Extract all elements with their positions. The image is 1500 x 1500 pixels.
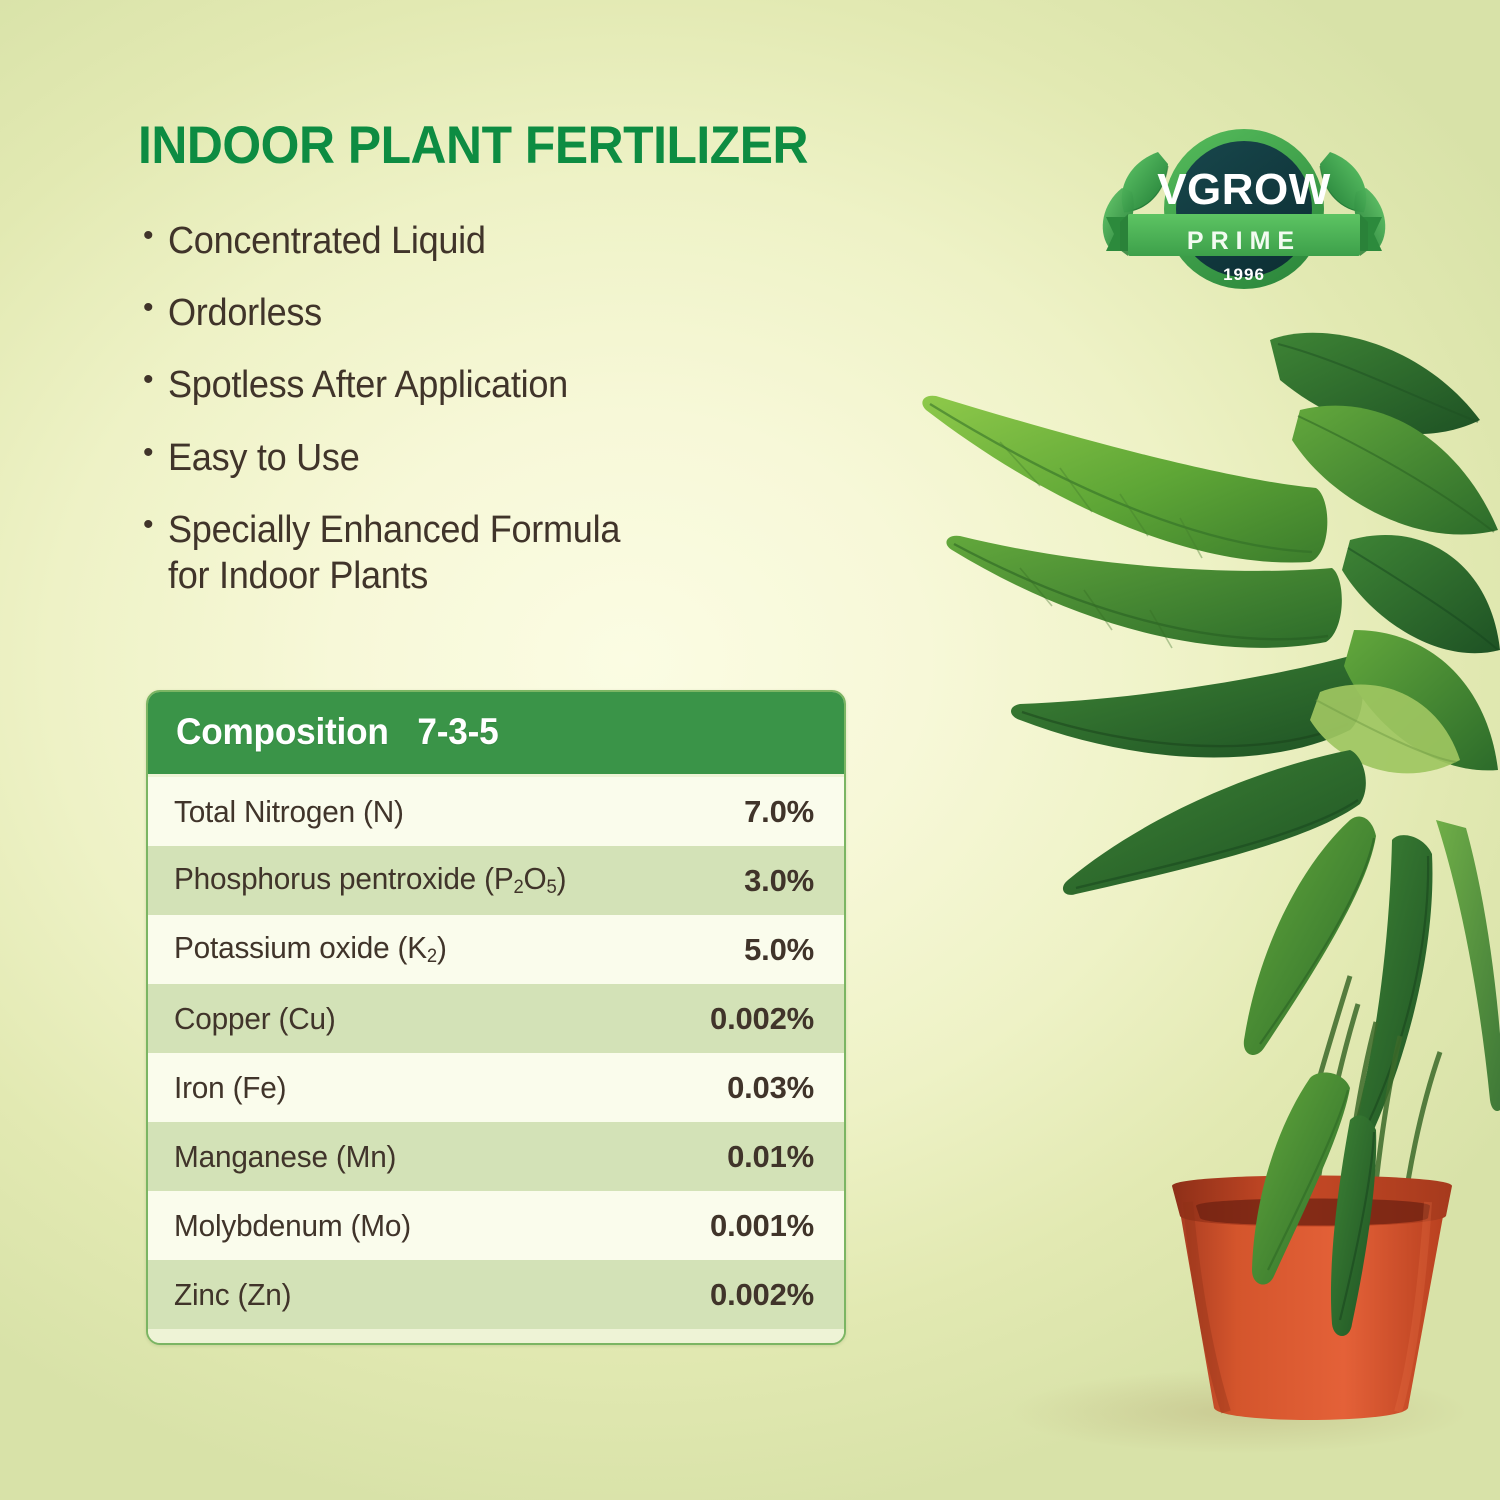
leaf-icon: [1436, 820, 1500, 1111]
bullet-icon: •: [138, 362, 168, 399]
list-item: • Spotless After Application: [138, 362, 988, 408]
terracotta-pot: [1172, 1176, 1452, 1421]
nutrient-label: Molybdenum (Mo): [174, 1208, 411, 1244]
nutrient-label: Potassium oxide (K2): [174, 930, 447, 968]
leaf-icon: [1292, 406, 1498, 535]
list-item: • Ordorless: [138, 290, 988, 336]
feature-list: • Concentrated Liquid • Ordorless • Spot…: [138, 218, 988, 600]
leaf-icon: [1252, 1073, 1350, 1285]
nutrient-label: Zinc (Zn): [174, 1277, 291, 1313]
page-title: INDOOR PLANT FERTILIZER: [138, 118, 937, 174]
table-row: Iron (Fe) 0.03%: [148, 1053, 844, 1122]
feature-label: Ordorless: [168, 290, 322, 336]
nutrient-label: Manganese (Mn): [174, 1139, 396, 1175]
nutrient-value: 0.002%: [710, 1277, 820, 1313]
table-row: Molybdenum (Mo) 0.001%: [148, 1191, 844, 1260]
feature-label: Spotless After Application: [168, 362, 568, 408]
feature-label: Specially Enhanced Formula for Indoor Pl…: [168, 507, 620, 600]
brand-name-text: VGROW: [1157, 165, 1331, 214]
composition-npk-ratio: 7-3-5: [417, 711, 498, 752]
composition-header-label: Composition 7-3-5: [176, 711, 784, 753]
table-row: Total Nitrogen (N) 7.0%: [148, 777, 844, 846]
brand-ribbon-text: PRIME: [1187, 227, 1301, 255]
leaf-icon: [1310, 685, 1460, 774]
list-item: • Specially Enhanced Formula for Indoor …: [138, 507, 988, 600]
composition-header: Composition 7-3-5: [148, 692, 844, 774]
leaf-icon: [1342, 535, 1500, 653]
bullet-icon: •: [138, 218, 168, 255]
nutrient-label: Total Nitrogen (N): [174, 794, 404, 830]
table-row: Potassium oxide (K2) 5.0%: [148, 915, 844, 984]
leaf-icon: [946, 536, 1341, 648]
table-row: Zinc (Zn) 0.002%: [148, 1260, 844, 1329]
composition-table-body: Total Nitrogen (N) 7.0% Phosphorus pentr…: [148, 774, 844, 1343]
bullet-icon: •: [138, 290, 168, 327]
leaf-icon: [1063, 750, 1366, 895]
leaf-icon: [1344, 630, 1498, 770]
composition-title: Composition: [176, 711, 389, 752]
leaf-icon: [1331, 1115, 1376, 1336]
table-row: Manganese (Mn) 0.01%: [148, 1122, 844, 1191]
soil: [1182, 1190, 1442, 1246]
pot-shadow: [1010, 1370, 1470, 1454]
bullet-icon: •: [138, 435, 168, 472]
nutrient-value: 0.03%: [727, 1070, 820, 1106]
nutrient-value: 0.001%: [710, 1208, 820, 1244]
feature-label: Concentrated Liquid: [168, 218, 486, 264]
feature-label: Easy to Use: [168, 435, 359, 481]
table-row: Copper (Cu) 0.002%: [148, 984, 844, 1053]
list-item: • Concentrated Liquid: [138, 218, 988, 264]
bullet-icon: •: [138, 507, 168, 544]
composition-panel: Composition 7-3-5 Total Nitrogen (N) 7.0…: [146, 690, 846, 1345]
brand-year-text: 1996: [1223, 265, 1265, 284]
brand-logo: VGROW PRIME 1996: [1094, 112, 1394, 317]
nutrient-label: Copper (Cu): [174, 1001, 336, 1037]
leaf-icon: [1011, 656, 1363, 757]
list-item: • Easy to Use: [138, 435, 988, 481]
leaf-icon: [1353, 835, 1432, 1142]
nutrient-label: Phosphorus pentroxide (P2O5): [174, 861, 566, 899]
nutrient-value: 5.0%: [744, 932, 820, 968]
product-infographic: INDOOR PLANT FERTILIZER • Concentrated L…: [0, 0, 1500, 1500]
nutrient-label: Iron (Fe): [174, 1070, 286, 1106]
left-content-column: INDOOR PLANT FERTILIZER • Concentrated L…: [138, 118, 988, 626]
nutrient-value: 7.0%: [744, 794, 820, 830]
leaf-icon: [1270, 333, 1480, 434]
leaf-icon: [1244, 817, 1376, 1055]
nutrient-value: 3.0%: [744, 863, 820, 899]
plant-stems: [1284, 976, 1440, 1224]
nutrient-value: 0.002%: [710, 1001, 820, 1037]
table-row: Phosphorus pentroxide (P2O5) 3.0%: [148, 846, 844, 915]
nutrient-value: 0.01%: [727, 1139, 820, 1175]
